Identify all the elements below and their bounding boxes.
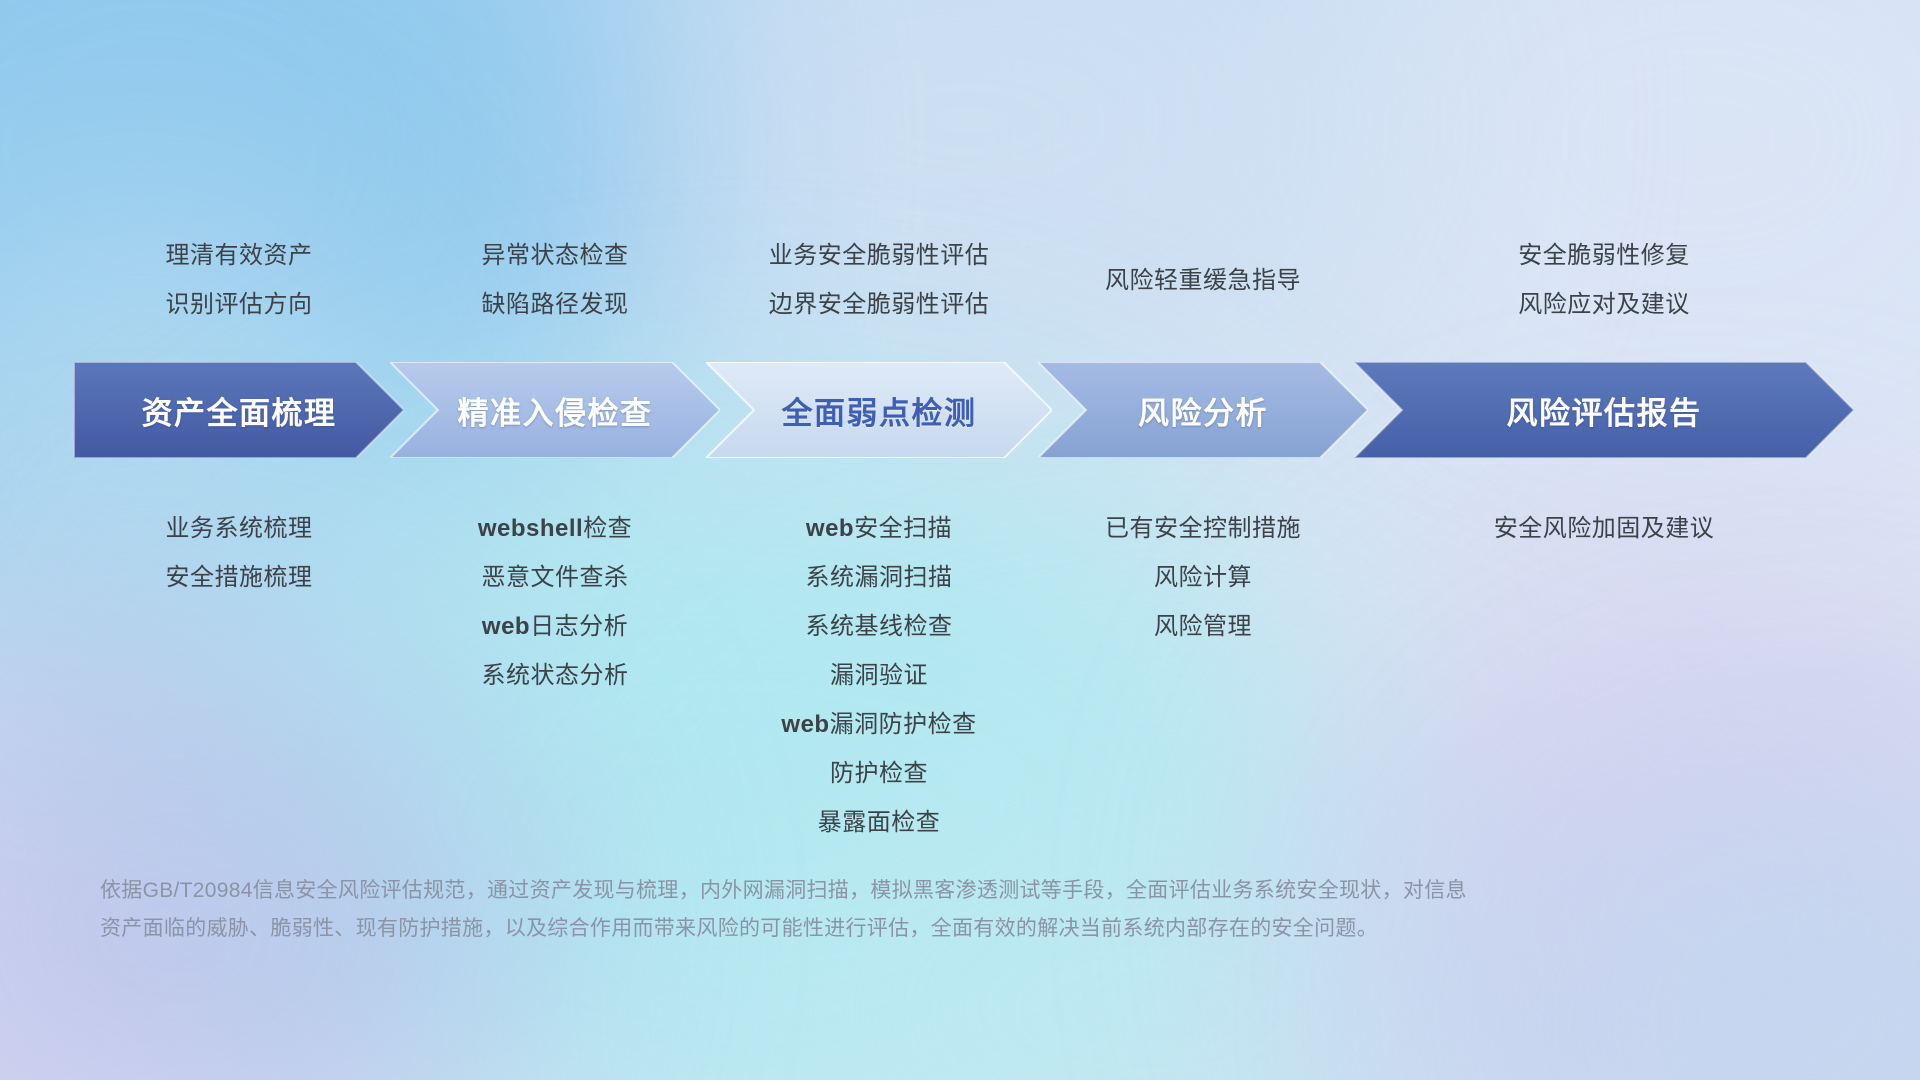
list-item-text: 日志分析	[530, 613, 628, 640]
list-item: 异常状态检查	[390, 231, 720, 280]
list-item: 业务系统梳理	[74, 504, 404, 553]
stage-5-input-list: 安全脆弱性修复 风险应对及建议	[1354, 231, 1854, 329]
list-item: 边界安全脆弱性评估	[706, 280, 1052, 329]
stage-1-output-list: 业务系统梳理 安全措施梳理	[74, 504, 404, 602]
list-item: 缺陷路径发现	[390, 280, 720, 329]
list-item: 安全风险加固及建议	[1354, 504, 1854, 553]
list-item: 安全脆弱性修复	[1354, 231, 1854, 280]
list-item: 安全措施梳理	[74, 553, 404, 602]
stage-2-input-list: 异常状态检查 缺陷路径发现	[390, 231, 720, 329]
stage-4-input-list: 风险轻重缓急指导	[1038, 256, 1368, 305]
list-item-keyword: web	[781, 711, 829, 738]
list-item: 识别评估方向	[74, 280, 404, 329]
stage-1-input-list: 理清有效资产 识别评估方向	[74, 231, 404, 329]
list-item: 风险管理	[1038, 602, 1368, 651]
list-item: 系统基线检查	[706, 602, 1052, 651]
list-item-text: 检查	[583, 515, 632, 542]
list-item: 系统状态分析	[390, 651, 720, 700]
stage-chevron-4-label: 风险分析	[1138, 388, 1268, 433]
list-item-text: 安全扫描	[854, 515, 952, 542]
stage-5-output-list: 安全风险加固及建议	[1354, 504, 1854, 553]
stage-chevron-5-label: 风险评估报告	[1507, 388, 1702, 433]
list-item: 防护检查	[706, 749, 1052, 798]
stage-3-output-list: web安全扫描 系统漏洞扫描 系统基线检查 漏洞验证 web漏洞防护检查 防护检…	[706, 504, 1052, 847]
list-item: 风险轻重缓急指导	[1038, 256, 1368, 305]
list-item: 恶意文件查杀	[390, 553, 720, 602]
list-item: web安全扫描	[706, 504, 1052, 553]
stage-chevron-2-label: 精准入侵检查	[458, 388, 653, 433]
list-item: 系统漏洞扫描	[706, 553, 1052, 602]
list-item-text: 漏洞防护检查	[830, 711, 977, 738]
list-item: 已有安全控制措施	[1038, 504, 1368, 553]
stage-chevron-3-label: 全面弱点检测	[782, 388, 977, 433]
list-item: web日志分析	[390, 602, 720, 651]
list-item-keyword: webshell	[478, 515, 583, 542]
list-item: webshell检查	[390, 504, 720, 553]
list-item-keyword: web	[482, 613, 530, 640]
stage-4-output-list: 已有安全控制措施 风险计算 风险管理	[1038, 504, 1368, 651]
list-item: 业务安全脆弱性评估	[706, 231, 1052, 280]
stage-2-output-list: webshell检查 恶意文件查杀 web日志分析 系统状态分析	[390, 504, 720, 700]
list-item: web漏洞防护检查	[706, 700, 1052, 749]
list-item: 暴露面检查	[706, 798, 1052, 847]
footer-description: 依据GB/T20984信息安全风险评估规范，通过资产发现与梳理，内外网漏洞扫描，…	[100, 872, 1840, 948]
stage-3-input-list: 业务安全脆弱性评估 边界安全脆弱性评估	[706, 231, 1052, 329]
process-diagram: 资产全面梳理 精准入侵检查	[0, 0, 1920, 1080]
list-item: 理清有效资产	[74, 231, 404, 280]
stage-chevron-1-label: 资产全面梳理	[142, 388, 337, 433]
footer-line-2: 资产面临的威胁、脆弱性、现有防护措施，以及综合作用而带来风险的可能性进行评估，全…	[100, 910, 1840, 948]
list-item: 风险应对及建议	[1354, 280, 1854, 329]
footer-line-1: 依据GB/T20984信息安全风险评估规范，通过资产发现与梳理，内外网漏洞扫描，…	[100, 872, 1840, 910]
list-item: 风险计算	[1038, 553, 1368, 602]
list-item: 漏洞验证	[706, 651, 1052, 700]
list-item-keyword: web	[806, 515, 854, 542]
